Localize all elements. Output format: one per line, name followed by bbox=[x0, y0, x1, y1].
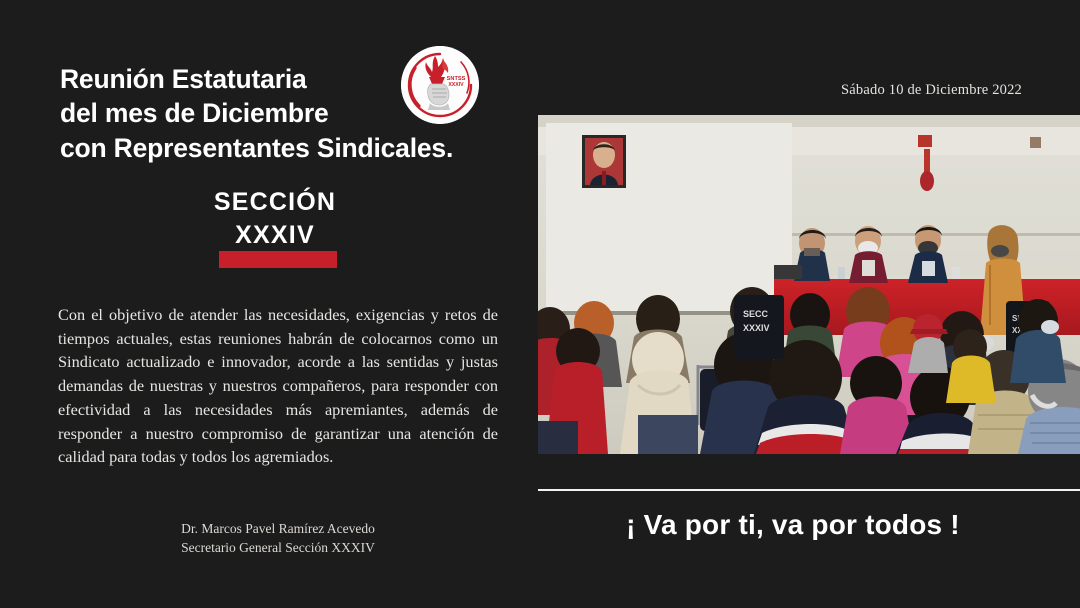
signature-block: Dr. Marcos Pavel Ramírez Acevedo Secreta… bbox=[58, 520, 498, 557]
section-heading: SECCIÓN XXXIV bbox=[60, 186, 490, 253]
section-roman: XXXIV bbox=[60, 219, 490, 252]
meeting-photo: SECC XXXIV SECC XXXIV bbox=[538, 115, 1080, 454]
signatory-title: Secretario General Sección XXXIV bbox=[58, 539, 498, 558]
section-divider bbox=[538, 489, 1080, 491]
signatory-name: Dr. Marcos Pavel Ramírez Acevedo bbox=[58, 520, 498, 539]
logo-section-text: XXXIV bbox=[448, 82, 464, 88]
red-accent-bar bbox=[219, 251, 337, 268]
union-logo-icon: SNTSS XXXIV bbox=[401, 46, 479, 124]
date-label: Sábado 10 de Diciembre 2022 bbox=[841, 82, 1022, 99]
slogan-text: ¡ Va por ti, va por todos ! bbox=[538, 509, 1048, 541]
headline-line-3: con Representantes Sindicales. bbox=[60, 131, 490, 165]
section-label: SECCIÓN bbox=[60, 186, 490, 219]
poster-canvas: Reunión Estatutaria del mes de Diciembre… bbox=[0, 0, 1080, 608]
body-paragraph: Con el objetivo de atender las necesidad… bbox=[58, 303, 498, 469]
